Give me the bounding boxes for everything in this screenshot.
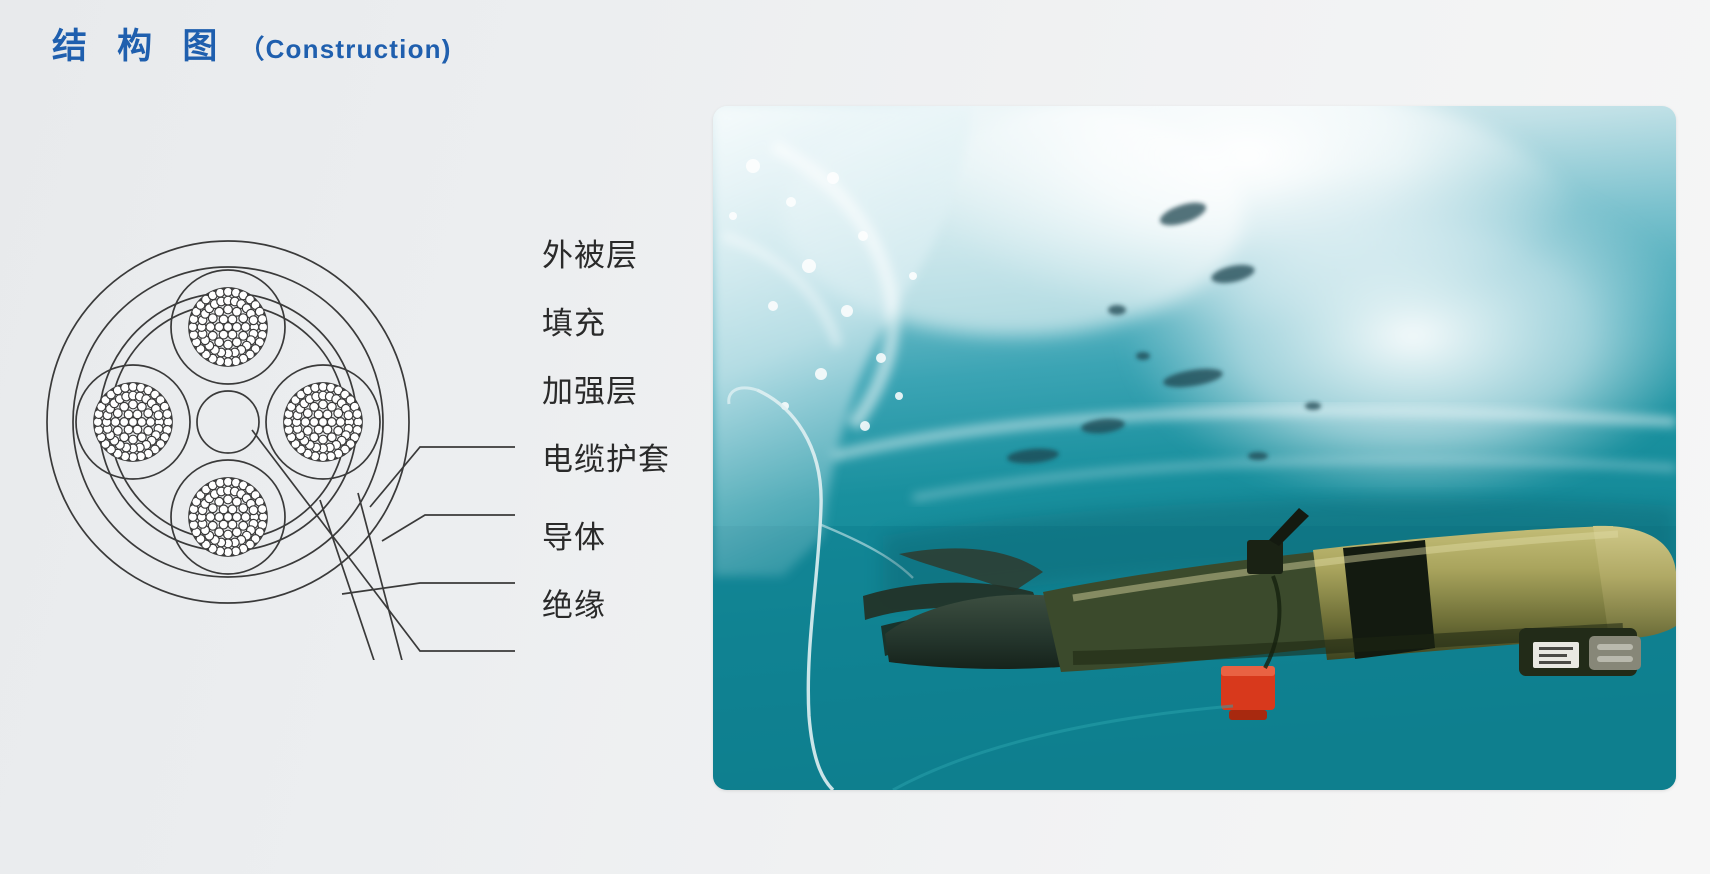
- page-title-cn: 结 构 图: [52, 18, 226, 69]
- label-cable-jacket: 电缆护套: [542, 434, 670, 479]
- label-insulation: 绝缘: [542, 580, 606, 625]
- page-title-en: （Construction): [238, 29, 451, 66]
- auv-under-ice-illustration: [713, 106, 1676, 790]
- leader-insulation: [320, 500, 515, 660]
- auv-under-ice-photo: [713, 106, 1676, 790]
- label-conductor: 导体: [542, 512, 606, 557]
- label-filler: 填充: [542, 298, 606, 343]
- center-filler: [197, 391, 259, 453]
- cable-construction-diagram: 外被层 填充 加强层 电缆护套 导体 绝缘: [20, 190, 740, 660]
- page-title: 结 构 图 （Construction): [52, 18, 452, 69]
- label-outer-sheath: 外被层: [542, 230, 638, 275]
- auv-instrument-pod: [1519, 628, 1641, 676]
- label-strength-layer: 加强层: [542, 366, 638, 411]
- leader-strength-layer: [342, 583, 515, 594]
- leader-filler: [382, 515, 515, 541]
